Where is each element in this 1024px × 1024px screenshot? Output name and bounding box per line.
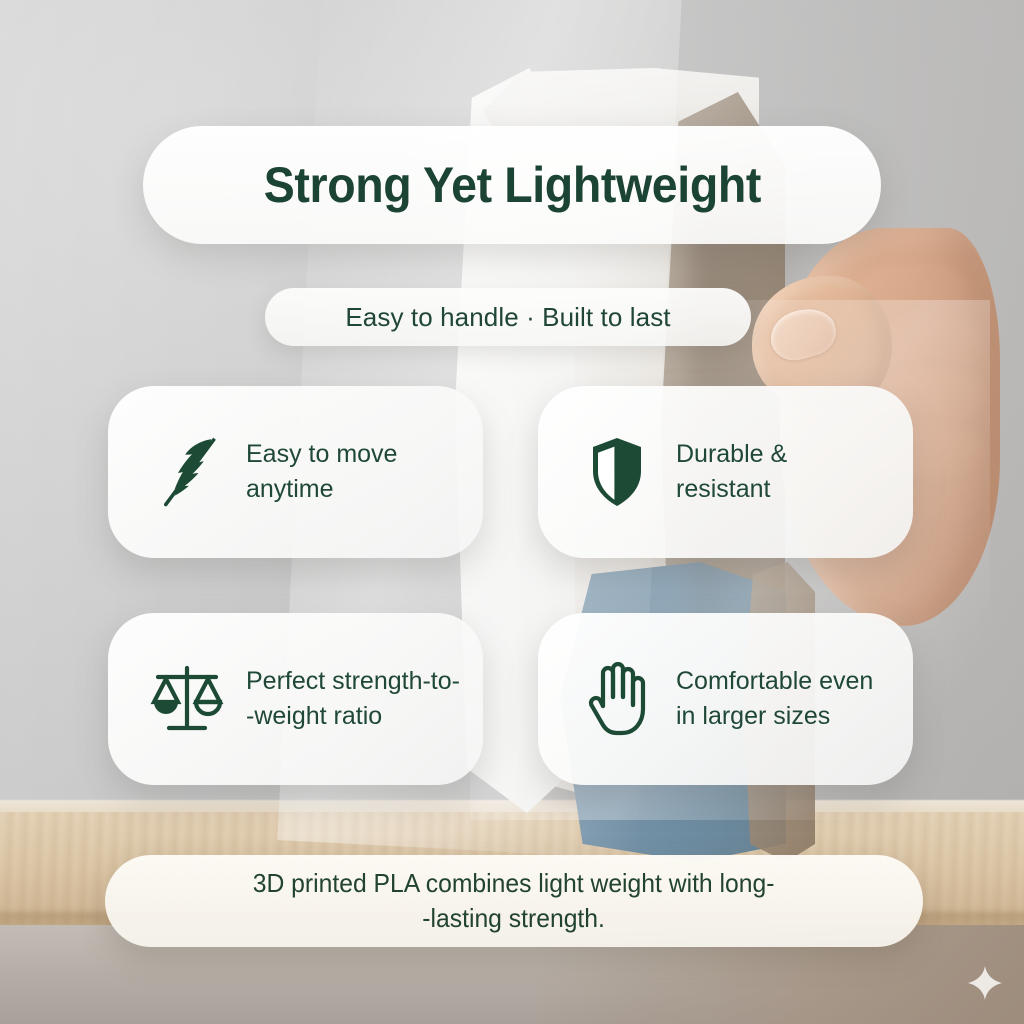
subtitle-pill: Easy to handle · Built to last bbox=[265, 288, 751, 346]
feature-line-2: in larger sizes bbox=[676, 699, 873, 735]
feature-card-comfortable[interactable]: Comfortable even in larger sizes bbox=[538, 613, 913, 785]
feather-icon bbox=[150, 432, 224, 512]
feature-card-label: Comfortable even in larger sizes bbox=[676, 664, 873, 735]
feature-card-durable[interactable]: Durable & resistant bbox=[538, 386, 913, 558]
shield-icon bbox=[580, 432, 654, 512]
open-hand-icon bbox=[580, 659, 654, 739]
footer-text: 3D printed PLA combines light weight wit… bbox=[253, 866, 775, 936]
feature-line-1: Perfect strength-to- bbox=[246, 667, 460, 695]
title-pill: Strong Yet Lightweight bbox=[143, 126, 881, 244]
feature-line-2: -weight ratio bbox=[246, 699, 460, 735]
footer-banner: 3D printed PLA combines light weight wit… bbox=[105, 855, 923, 947]
feature-line-1: Durable & bbox=[676, 440, 787, 468]
feature-line-1: Comfortable even bbox=[676, 667, 873, 695]
feature-card-label: Easy to move anytime bbox=[246, 437, 397, 508]
feature-line-1: Easy to move bbox=[246, 440, 397, 468]
feature-card-label: Durable & resistant bbox=[676, 437, 787, 508]
feature-card-easy-to-move[interactable]: Easy to move anytime bbox=[108, 386, 483, 558]
feature-line-2: anytime bbox=[246, 472, 397, 508]
footer-line-1: 3D printed PLA combines light weight wit… bbox=[253, 868, 775, 898]
footer-line-2: -lasting strength. bbox=[253, 901, 775, 936]
poster-canvas: Strong Yet Lightweight Easy to handle · … bbox=[0, 0, 1024, 1024]
feature-line-2: resistant bbox=[676, 472, 787, 508]
feature-card-label: Perfect strength-to- -weight ratio bbox=[246, 664, 460, 735]
balance-scale-icon bbox=[150, 659, 224, 739]
page-title: Strong Yet Lightweight bbox=[263, 156, 760, 214]
feature-card-strength-ratio[interactable]: Perfect strength-to- -weight ratio bbox=[108, 613, 483, 785]
page-subtitle: Easy to handle · Built to last bbox=[345, 302, 670, 333]
sparkle-icon bbox=[968, 966, 1002, 1000]
